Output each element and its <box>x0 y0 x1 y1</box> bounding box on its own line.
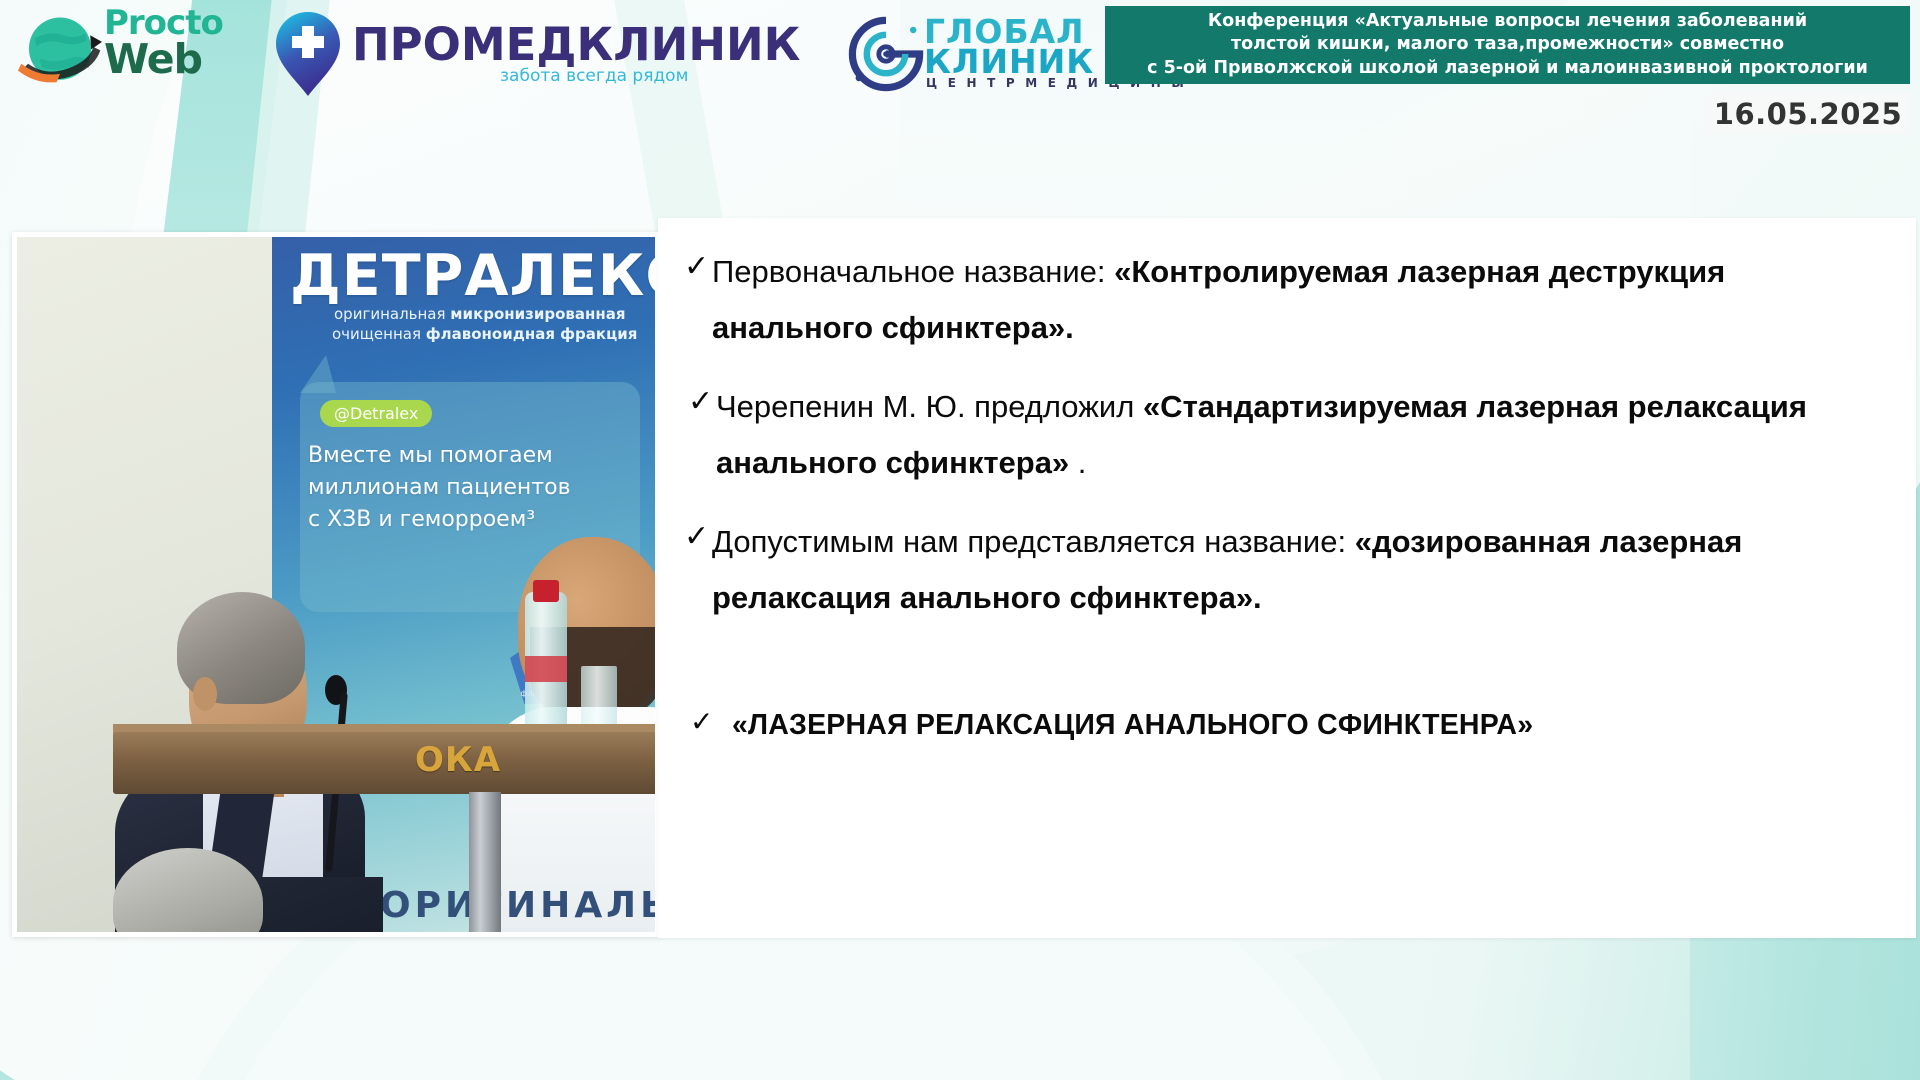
list-item: ✓ Первоначальное название: «Контролируем… <box>684 244 1882 357</box>
bullet-3-plain: Допустимым нам представляется название: <box>712 524 1355 559</box>
promedklinik-logo: ПРОМЕДКЛИНИК забота всегда рядом <box>272 4 672 104</box>
bullet-1-plain: Первоначальное название: <box>712 254 1114 289</box>
content-card: ✓ Первоначальное название: «Контролируем… <box>658 218 1916 938</box>
podium-leg <box>469 792 501 932</box>
list-item: ✓ Черепенин М. Ю. предложил «Стандартизи… <box>684 379 1882 492</box>
slide-stage: Procto Web ПРОМЕДКЛИНИК забота всегда ря… <box>0 0 1920 1080</box>
bullet-text-4: «ЛАЗЕРНАЯ РЕЛАКСАЦИЯ АНАЛЬНОГО СФИНКТЕНР… <box>718 700 1882 752</box>
bullet-list: ✓ Первоначальное название: «Контролируем… <box>684 244 1882 752</box>
detralex-sub1a: оригинальная <box>334 305 450 323</box>
detralex-handle: @Detralex <box>320 400 432 427</box>
global-klinik-logo: ГЛОБАЛ КЛИНИК Ц Е Н Т Р М Е Д И Ц И Н Ы <box>846 6 1106 102</box>
bubble-line-1: Вместе мы помогаем <box>308 440 571 472</box>
bullet-2-after: . <box>1069 445 1086 480</box>
checkmark-icon: ✓ <box>684 514 712 561</box>
promedklinik-wordmark: ПРОМЕДКЛИНИК <box>352 18 800 71</box>
detralex-sub1b: микронизированная <box>450 305 625 323</box>
detralex-sub2b: флавоноидная фракция <box>426 325 638 343</box>
checkmark-icon: ✓ <box>684 244 712 291</box>
slide-header: Procto Web ПРОМЕДКЛИНИК забота всегда ря… <box>0 0 1920 108</box>
speech-bubble-text: Вместе мы помогаем миллионам пациентов с… <box>308 440 571 536</box>
podium-logo: ОКА <box>415 740 501 780</box>
detralex-sub2a: очищенная <box>332 325 426 343</box>
bubble-line-3: с ХЗВ и геморроем³ <box>308 504 571 536</box>
detralex-banner-subline2: очищенная флавоноидная фракция <box>332 325 637 343</box>
proctoweb-logo: Procto Web <box>8 2 223 102</box>
map-pin-cross-icon <box>272 10 344 98</box>
list-item: ✓ «ЛАЗЕРНАЯ РЕЛАКСАЦИЯ АНАЛЬНОГО СФИНКТЕ… <box>684 700 1882 752</box>
water-bottle-cap <box>533 580 559 602</box>
proctoweb-wordmark: Procto Web <box>104 8 219 78</box>
conference-banner-line2: толстой кишки, малого таза,промежности» … <box>1231 33 1784 56</box>
podium <box>113 732 655 794</box>
promedklinik-tagline: забота всегда рядом <box>500 66 688 86</box>
bullet-2-plain: Черепенин М. Ю. предложил <box>716 389 1143 424</box>
globe-icon <box>18 10 102 94</box>
speaker-photo: ДЕТРАЛЕКС оригинальная микронизированная… <box>12 232 660 937</box>
detralex-banner-subline1: оригинальная микронизированная <box>334 305 626 323</box>
conference-banner: Конференция «Актуальные вопросы лечения … <box>1105 6 1910 84</box>
target-g-icon <box>846 14 926 94</box>
detralex-bottom-word: ОРИГИНАЛЬНЫЙ <box>380 885 655 926</box>
bubble-line-2: миллионам пациентов <box>308 472 571 504</box>
date-badge: 16.05.2025 <box>1706 93 1910 134</box>
conference-banner-line1: Конференция «Актуальные вопросы лечения … <box>1208 10 1807 33</box>
detralex-banner-title: ДЕТРАЛЕКС <box>290 243 655 309</box>
checkmark-icon: ✓ <box>684 379 716 426</box>
conference-banner-line3: с 5-ой Приволжской школой лазерной и мал… <box>1147 57 1868 80</box>
speaker-photo-image: ДЕТРАЛЕКС оригинальная микронизированная… <box>17 237 655 932</box>
bullet-text-3: Допустимым нам представляется название: … <box>712 514 1882 627</box>
proctoweb-line2: Web <box>104 40 219 78</box>
bullet-text-1: Первоначальное название: «Контролируемая… <box>712 244 1882 357</box>
water-bottle-label <box>525 656 567 682</box>
checkmark-icon: ✓ <box>684 700 718 743</box>
speaker-ear <box>193 677 217 711</box>
list-item: ✓ Допустимым нам представляется название… <box>684 514 1882 627</box>
bullet-text-2: Черепенин М. Ю. предложил «Стандартизиру… <box>716 379 1882 492</box>
